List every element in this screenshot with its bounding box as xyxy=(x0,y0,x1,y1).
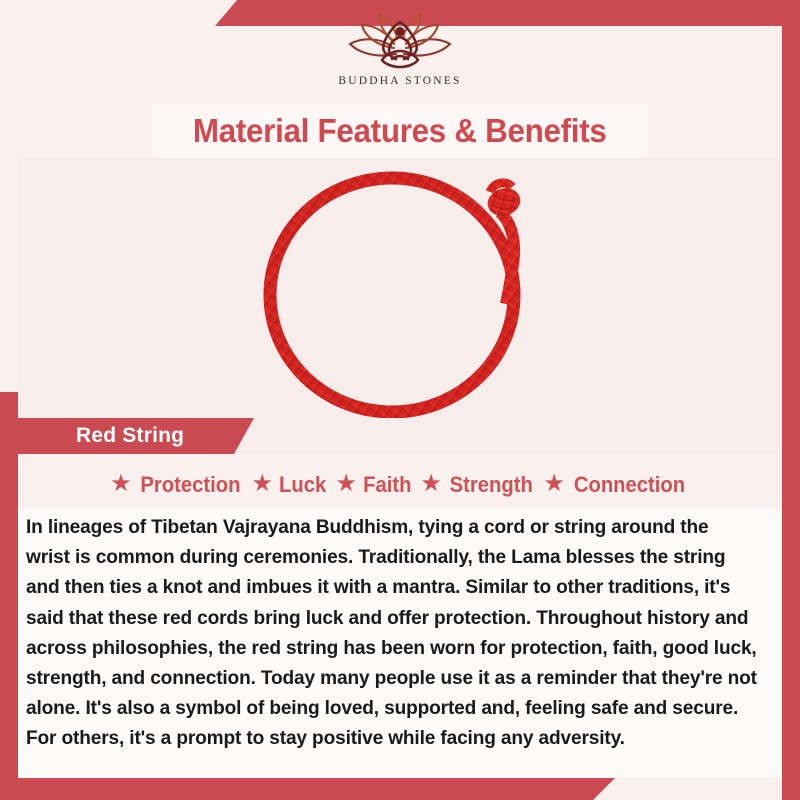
feature-item: ★ Protection xyxy=(110,472,244,498)
feature-item: ★ Connection xyxy=(543,472,690,498)
feature-list: ★ Protection ★ Luck ★ Faith ★ Strength ★… xyxy=(18,462,782,508)
brand-logo: BUDDHA STONES xyxy=(0,10,800,87)
star-icon: ★ xyxy=(420,472,442,496)
page-title: Material Features & Benefits xyxy=(193,112,607,150)
lotus-meditation-icon xyxy=(334,10,466,72)
product-image xyxy=(18,158,782,420)
star-icon: ★ xyxy=(543,472,565,496)
brand-name: BUDDHA STONES xyxy=(338,75,461,87)
product-label: Red String xyxy=(76,424,184,448)
description-paragraph: In lineages of Tibetan Vajrayana Buddhis… xyxy=(26,512,757,754)
feature-label: Protection xyxy=(140,472,240,498)
feature-item: ★ Faith xyxy=(335,472,413,498)
feature-label: Luck xyxy=(279,472,326,498)
star-icon: ★ xyxy=(335,472,357,496)
star-icon: ★ xyxy=(110,472,132,496)
decorative-bottom-bar xyxy=(0,778,615,800)
feature-item: ★ Luck xyxy=(251,472,328,498)
feature-label: Strength xyxy=(450,472,533,498)
red-string-bracelet-illustration xyxy=(232,158,572,420)
feature-label: Connection xyxy=(574,472,685,498)
star-icon: ★ xyxy=(251,472,273,496)
description-card: In lineages of Tibetan Vajrayana Buddhis… xyxy=(18,508,782,778)
title-banner: Material Features & Benefits xyxy=(152,104,648,158)
feature-item: ★ Strength xyxy=(420,472,536,498)
infographic-page: BUDDHA STONES Material Features & Benefi… xyxy=(0,0,800,800)
decorative-right-bar xyxy=(782,26,800,800)
decorative-left-bar xyxy=(0,392,18,800)
product-label-banner: Red String xyxy=(18,418,254,454)
feature-label: Faith xyxy=(363,472,411,498)
